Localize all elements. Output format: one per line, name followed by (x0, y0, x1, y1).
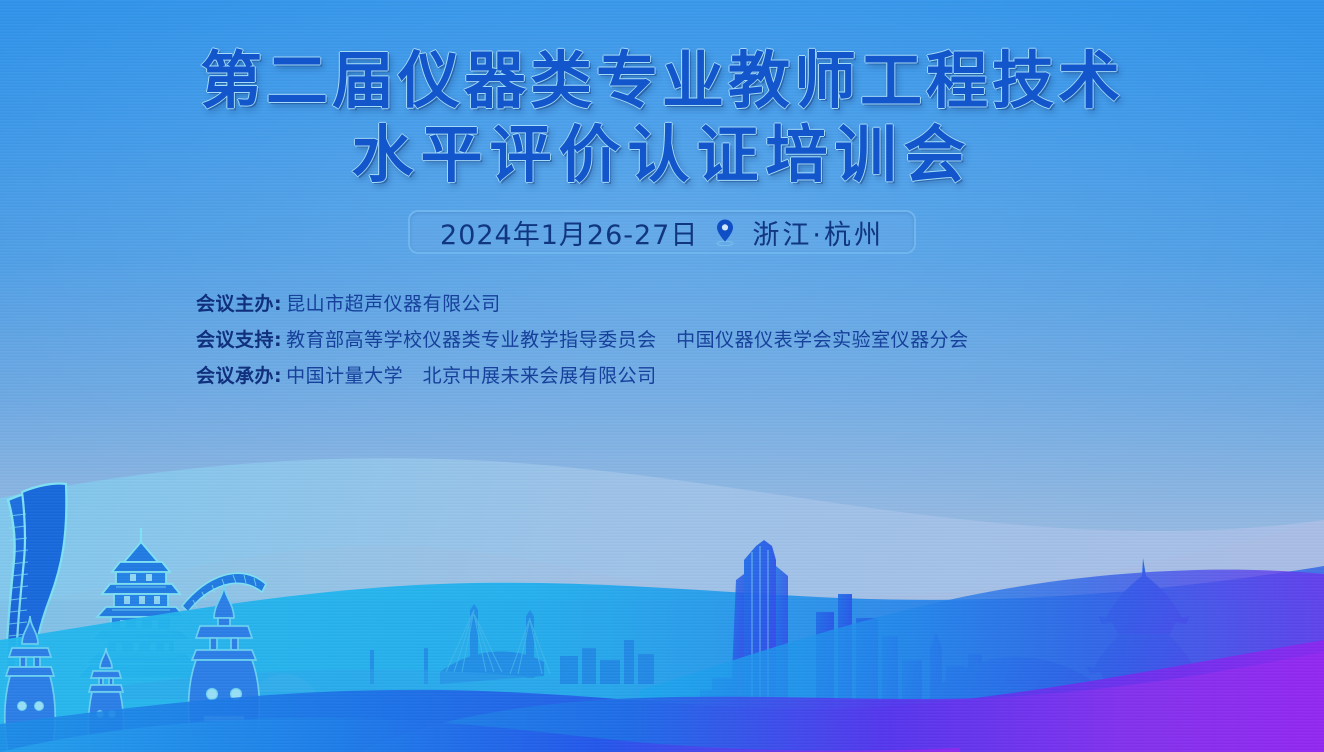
page-title-line-1: 第二届仪器类专业教师工程技术 (0, 44, 1324, 118)
organizer-label: 会议承办: (196, 358, 282, 394)
date-location-pill: 2024年1月26-27日 浙江·杭州 (408, 210, 916, 254)
organizer-value: 昆山市超声仪器有限公司 (286, 286, 501, 322)
conference-banner: 第二届仪器类专业教师工程技术 水平评价认证培训会 2024年1月26-27日 浙… (0, 0, 1324, 752)
lower-haze (0, 600, 1324, 752)
organizer-row: 会议承办: 中国计量大学 北京中展未来会展有限公司 (196, 358, 1324, 394)
date-location-row: 2024年1月26-27日 浙江·杭州 (0, 210, 1324, 254)
organizer-label: 会议主办: (196, 286, 282, 322)
organizer-row: 会议主办: 昆山市超声仪器有限公司 (196, 286, 1324, 322)
map-pin-icon (714, 218, 736, 246)
banner-content: 第二届仪器类专业教师工程技术 水平评价认证培训会 2024年1月26-27日 浙… (0, 0, 1324, 460)
page-title-line-2: 水平评价认证培训会 (0, 118, 1324, 192)
organizer-label: 会议支持: (196, 322, 282, 358)
title-block: 第二届仪器类专业教师工程技术 水平评价认证培训会 (0, 0, 1324, 192)
conference-date: 2024年1月26-27日 (440, 213, 698, 252)
organizer-row: 会议支持: 教育部高等学校仪器类专业教学指导委员会 中国仪器仪表学会实验室仪器分… (196, 322, 1324, 358)
organizer-value: 教育部高等学校仪器类专业教学指导委员会 中国仪器仪表学会实验室仪器分会 (286, 322, 969, 358)
conference-location: 浙江·杭州 (752, 213, 884, 252)
organizer-value: 中国计量大学 北京中展未来会展有限公司 (286, 358, 657, 394)
organizer-list: 会议主办: 昆山市超声仪器有限公司 会议支持: 教育部高等学校仪器类专业教学指导… (0, 286, 1324, 394)
